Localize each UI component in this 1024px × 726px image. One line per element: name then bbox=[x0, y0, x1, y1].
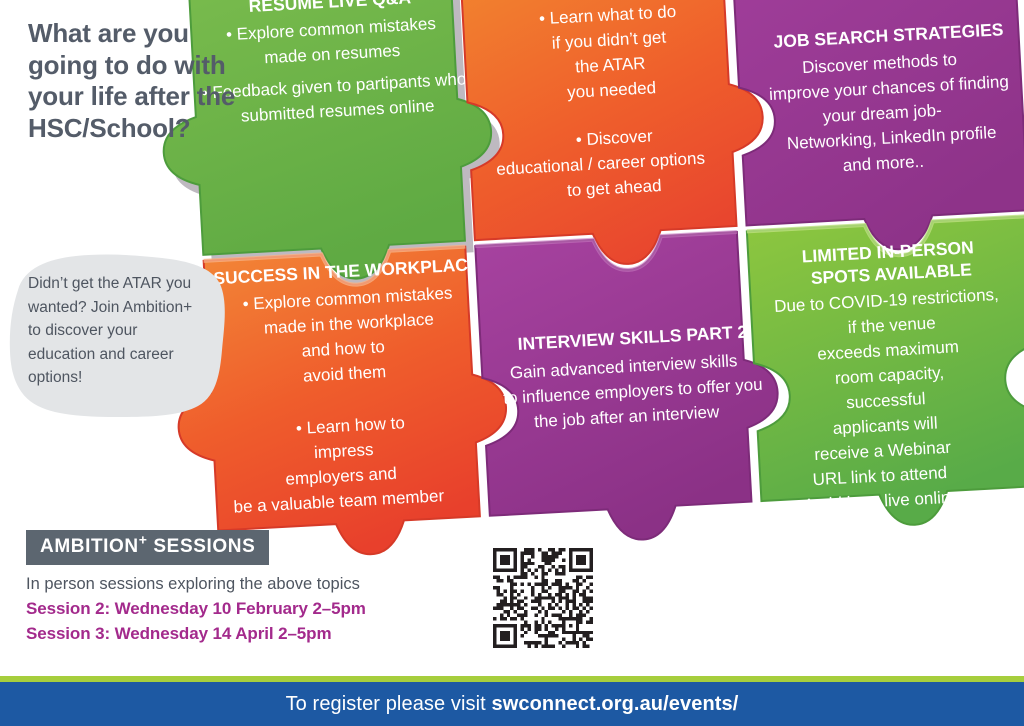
ambition-sessions-badge: AMBITION+ SESSIONS bbox=[26, 530, 269, 565]
ambition-blob: Didn’t get the ATAR you wanted? Join Amb… bbox=[2, 250, 232, 425]
footer-prefix: To register please visit bbox=[286, 693, 492, 715]
footer-bar: To register please visit swconnect.org.a… bbox=[0, 682, 1024, 726]
sessions-subtitle: In person sessions exploring the above t… bbox=[26, 575, 366, 594]
qr-code[interactable] bbox=[488, 548, 598, 648]
puzzle-svg: RESUME LIVE Q&A • Explore common mistake… bbox=[180, 0, 1024, 579]
puzzle-board: RESUME LIVE Q&A • Explore common mistake… bbox=[180, 0, 1024, 579]
session-item-3: Session 3: Wednesday 14 April 2–5pm bbox=[26, 624, 366, 644]
badge-plus: + bbox=[139, 532, 148, 548]
sessions-block: AMBITION+ SESSIONS In person sessions ex… bbox=[26, 530, 366, 644]
qr-code-graphic bbox=[488, 548, 598, 648]
page-headline: What are you going to do with your life … bbox=[28, 18, 238, 145]
footer-url[interactable]: swconnect.org.au/events/ bbox=[492, 693, 739, 715]
badge-main: AMBITION bbox=[40, 536, 139, 557]
badge-tail: SESSIONS bbox=[148, 536, 256, 557]
puzzle-piece-limited-in-person-spots[interactable]: LIMITED IN-PERSON SPOTS AVAILABLE Due to… bbox=[747, 216, 1024, 533]
footer-text: To register please visit swconnect.org.a… bbox=[286, 693, 739, 716]
blob-text: Didn’t get the ATAR you wanted? Join Amb… bbox=[28, 272, 208, 390]
session-item-2: Session 2: Wednesday 10 February 2–5pm bbox=[26, 599, 366, 619]
puzzle-piece-interview-skills-part-2[interactable]: INTERVIEW SKILLS PART 2 Gain advanced in… bbox=[475, 230, 785, 547]
